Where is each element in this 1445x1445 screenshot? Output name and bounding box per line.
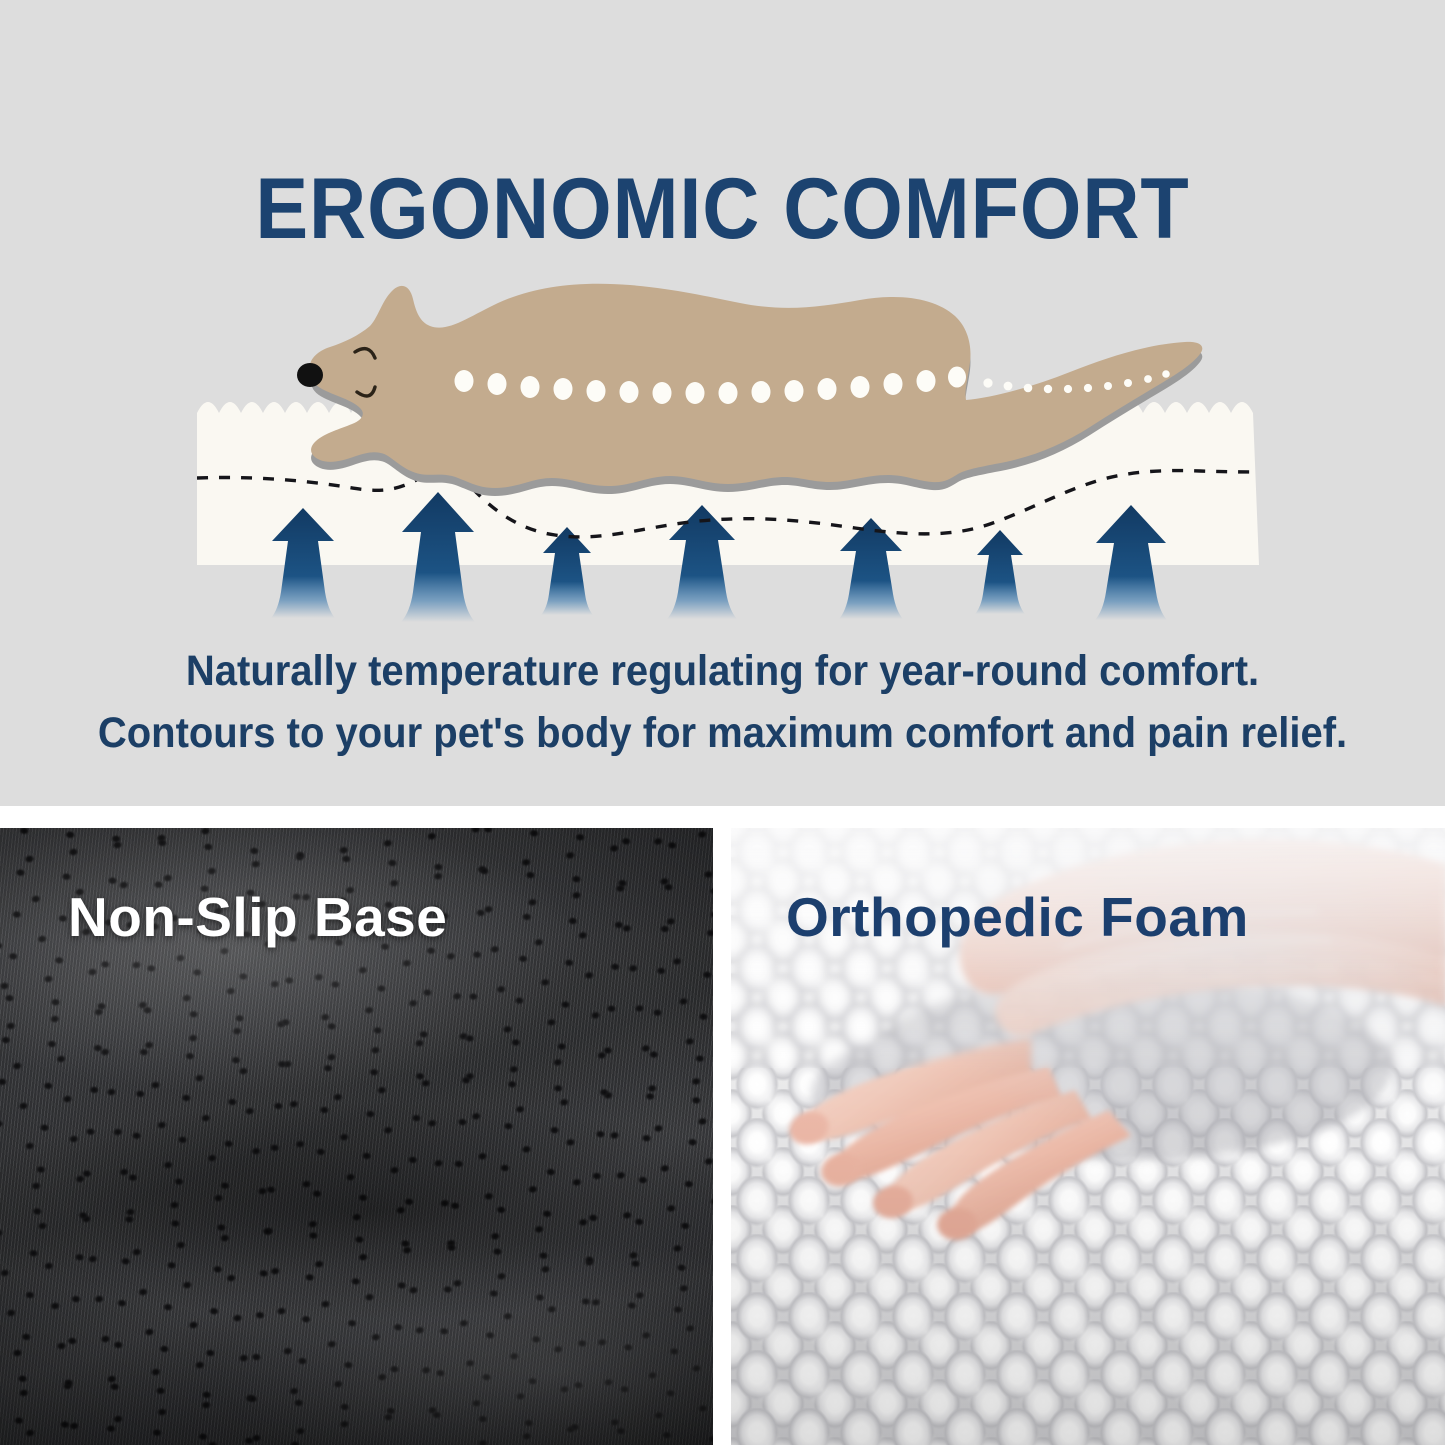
- caption-line-2: Contours to your pet's body for maximum …: [51, 702, 1395, 764]
- pet-nose: [297, 363, 323, 387]
- panel-non-slip-base: Non-Slip Base: [0, 828, 713, 1445]
- panel-label-orthopedic-foam: Orthopedic Foam: [786, 885, 1249, 949]
- caption-line-1: Naturally temperature regulating for yea…: [51, 640, 1395, 702]
- feature-panels: Non-Slip Base: [0, 828, 1445, 1445]
- hero-section: ERGONOMIC COMFORT: [0, 0, 1445, 806]
- infographic-page: ERGONOMIC COMFORT: [0, 0, 1445, 1445]
- panel-label-non-slip-base: Non-Slip Base: [68, 885, 447, 949]
- hero-caption: Naturally temperature regulating for yea…: [51, 640, 1395, 764]
- panel-orthopedic-foam: Orthopedic Foam: [731, 828, 1445, 1445]
